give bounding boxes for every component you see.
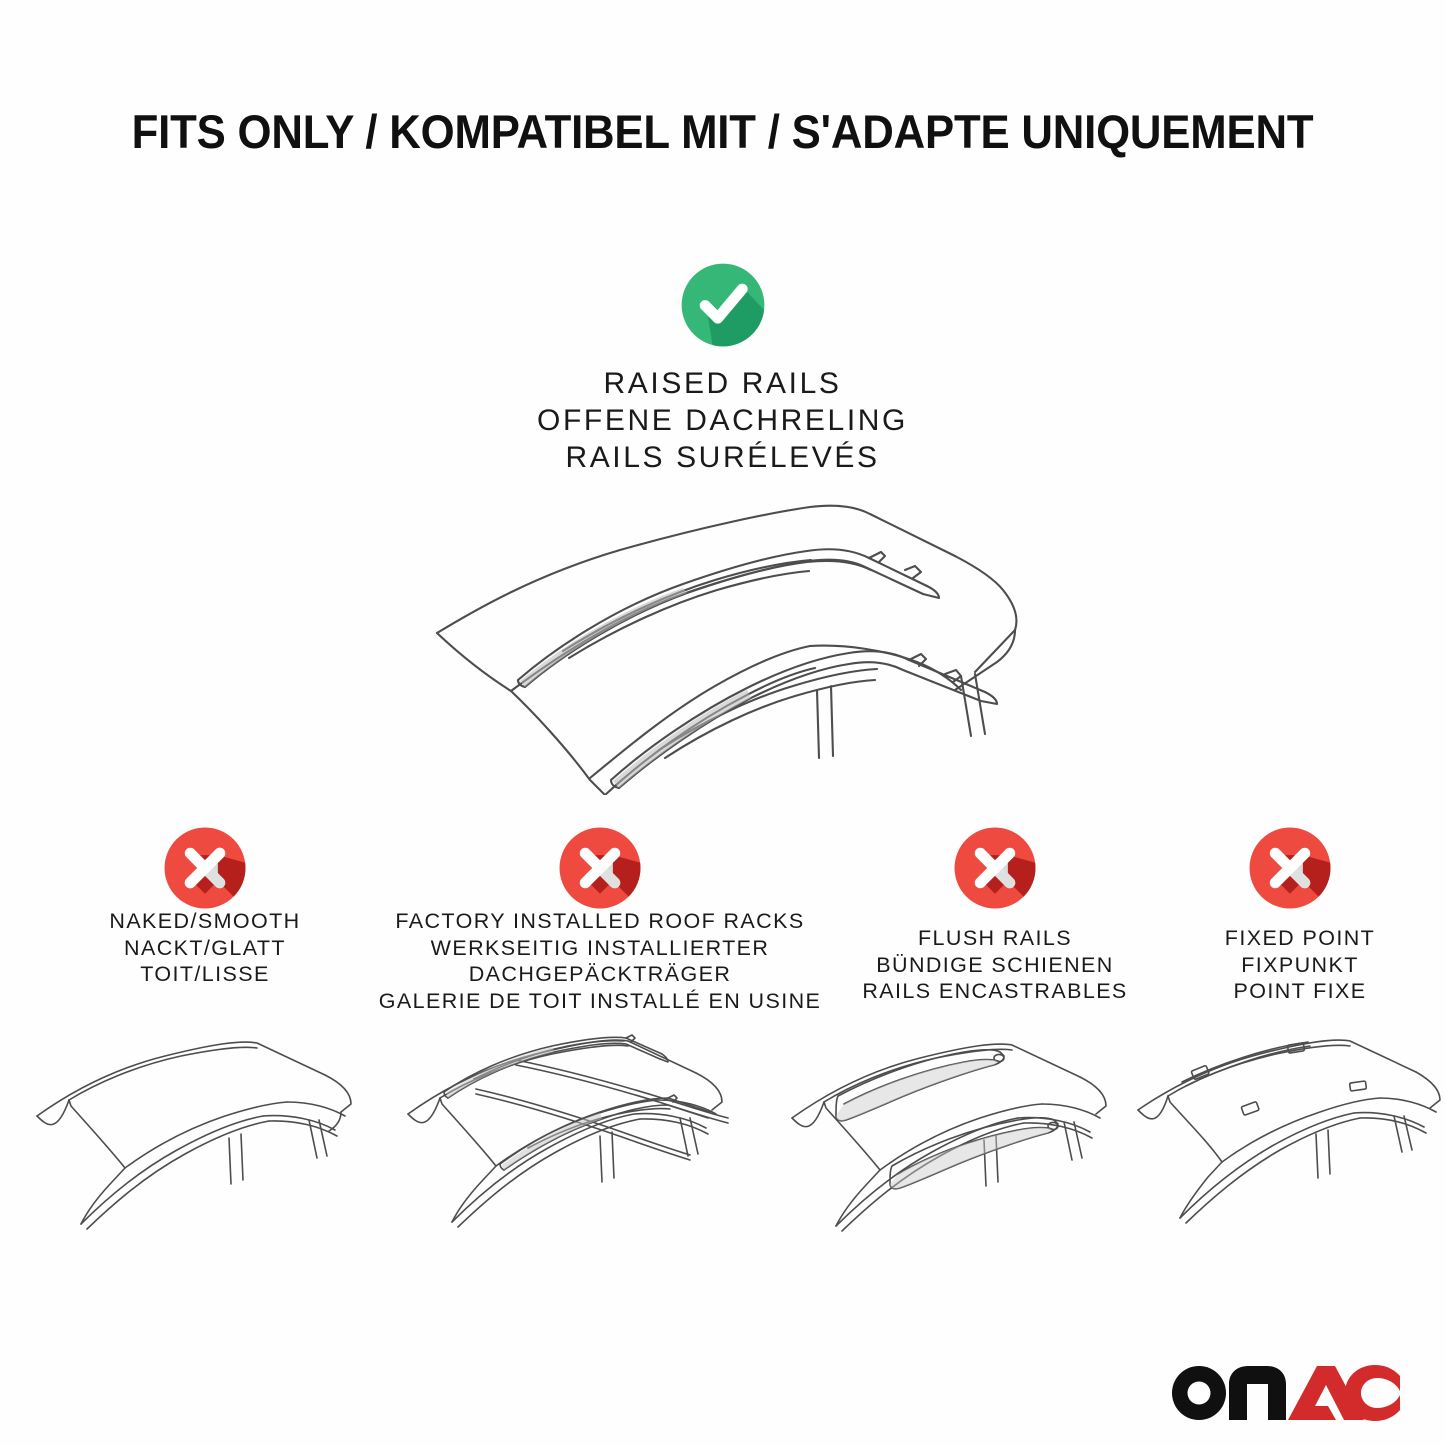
compatible-labels: RAISED RAILS OFFENE DACHRELING RAILS SUR… <box>0 365 1445 476</box>
label-line: FIXED POINT <box>1155 925 1445 952</box>
label-line: FACTORY INSTALLED ROOF RACKS <box>370 908 830 935</box>
label-line: NACKT/GLATT <box>20 935 390 962</box>
red-cross-icon-naked-smooth <box>159 822 251 914</box>
label-line: WERKSEITIG INSTALLIERTER <box>370 935 830 962</box>
label-line: BÜNDIGE SCHIENEN <box>820 952 1170 979</box>
red-cross-icon-factory-roof-racks <box>554 822 646 914</box>
label-line: FIXPUNKT <box>1155 952 1445 979</box>
label-line: DACHGEPÄCKTRÄGER <box>370 961 830 988</box>
incompatible-labels-naked-smooth: NAKED/SMOOTH NACKT/GLATT TOIT/LISSE <box>20 908 390 988</box>
incompatible-labels-flush-rails: FLUSH RAILS BÜNDIGE SCHIENEN RAILS ENCAS… <box>820 925 1170 1005</box>
red-cross-icon-flush-rails <box>949 822 1041 914</box>
label-line: POINT FIXE <box>1155 978 1445 1005</box>
label-line: GALERIE DE TOIT INSTALLÉ EN USINE <box>370 988 830 1015</box>
compatible-label-line-2: OFFENE DACHRELING <box>0 402 1445 439</box>
green-check-icon <box>676 258 770 352</box>
label-line: FLUSH RAILS <box>820 925 1170 952</box>
compatible-label-line-1: RAISED RAILS <box>0 365 1445 402</box>
car-roof-raised-rails-illustration <box>415 490 1040 795</box>
compatible-label-line-3: RAILS SURÉLEVÉS <box>0 439 1445 476</box>
car-roof-flush-rails-illustration <box>778 1020 1138 1248</box>
car-roof-naked-smooth-illustration <box>25 1020 385 1245</box>
omac-logo <box>1168 1362 1400 1424</box>
car-roof-factory-roof-racks-illustration <box>398 1012 758 1244</box>
page-title: FITS ONLY / KOMPATIBEL MIT / S'ADAPTE UN… <box>51 104 1395 160</box>
incompatible-labels-fixed-point: FIXED POINT FIXPUNKT POINT FIXE <box>1155 925 1445 1005</box>
label-line: TOIT/LISSE <box>20 961 390 988</box>
infographic-root: FITS ONLY / KOMPATIBEL MIT / S'ADAPTE UN… <box>0 0 1445 1445</box>
red-cross-icon-fixed-point <box>1244 822 1336 914</box>
car-roof-fixed-point-illustration <box>1128 1020 1445 1245</box>
label-line: RAILS ENCASTRABLES <box>820 978 1170 1005</box>
incompatible-labels-factory-roof-racks: FACTORY INSTALLED ROOF RACKS WERKSEITIG … <box>370 908 830 1014</box>
label-line: NAKED/SMOOTH <box>20 908 390 935</box>
